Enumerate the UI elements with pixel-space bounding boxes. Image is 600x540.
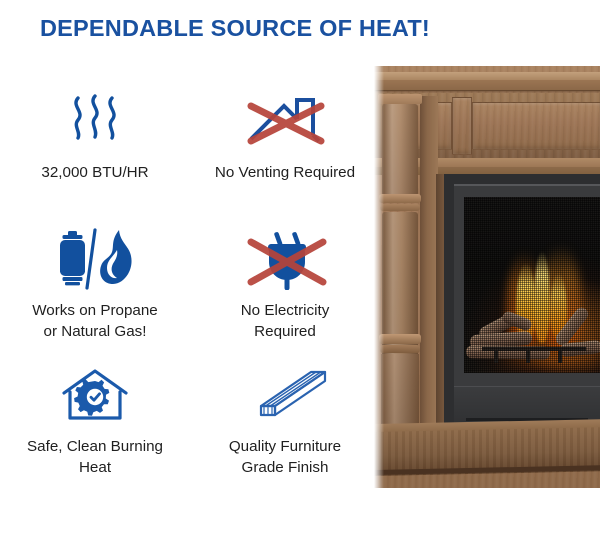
feature-label-line: Heat <box>79 459 111 476</box>
page-title: DEPENDABLE SOURCE OF HEAT! <box>40 14 560 43</box>
grate-leg <box>526 349 530 363</box>
feature-label: No Electricity Required <box>241 301 330 343</box>
feature-label-line: Grade Finish <box>242 459 329 476</box>
column-ring-lower-b <box>380 345 420 353</box>
column-shaft-upper <box>382 104 418 196</box>
promo-panel: DEPENDABLE SOURCE OF HEAT! 32,000 BTU/HR <box>0 0 600 540</box>
feature-label: Quality Furniture Grade Finish <box>229 437 341 479</box>
column-ring-upper-b <box>380 204 420 211</box>
column-ring-upper-a <box>379 194 421 203</box>
feature-label-line: Required <box>254 323 316 340</box>
feature-label: 32,000 BTU/HR <box>41 163 148 184</box>
feature-grid: 32,000 BTU/HR N <box>0 80 380 490</box>
power-plug-crossed-out-icon <box>237 223 333 295</box>
feature-label: No Venting Required <box>215 163 355 184</box>
chimney-crossed-out-icon <box>237 86 333 152</box>
feature-label-line: Works on Propane <box>32 302 158 319</box>
panel-right <box>472 102 600 150</box>
grate-leg <box>494 349 498 363</box>
feature-no-venting: No Venting Required <box>190 80 380 217</box>
feature-no-electricity: No Electricity Required <box>190 217 380 354</box>
column-ring-lower-a <box>379 334 421 344</box>
fireplace-mantel-photo <box>374 66 600 488</box>
house-with-gear-check-icon <box>59 359 131 431</box>
mantel-body <box>374 66 600 488</box>
heat-waves-icon <box>66 86 124 152</box>
propane-tank-and-flame-icon <box>49 223 141 295</box>
firebox-interior <box>464 197 600 373</box>
feature-label-line: No Electricity <box>241 302 330 319</box>
column-base <box>381 354 419 424</box>
grate-leg <box>558 349 562 363</box>
feature-label-line: Quality Furniture <box>229 438 341 455</box>
feature-btu-rating: 32,000 BTU/HR <box>0 80 190 217</box>
feature-label: Safe, Clean Burning Heat <box>27 437 163 479</box>
feature-label: Works on Propane or Natural Gas! <box>32 301 158 343</box>
feature-furniture-grade-finish: Quality Furniture Grade Finish <box>190 353 380 490</box>
column-capital <box>378 94 422 104</box>
feature-label-line: or Natural Gas! <box>44 323 147 340</box>
feature-fuel-type: Works on Propane or Natural Gas! <box>0 217 190 354</box>
panel-keystone <box>452 97 472 155</box>
feature-label-line: Safe, Clean Burning <box>27 438 163 455</box>
feature-safe-clean-burning: Safe, Clean Burning Heat <box>0 353 190 490</box>
wood-plank-icon <box>237 359 333 431</box>
